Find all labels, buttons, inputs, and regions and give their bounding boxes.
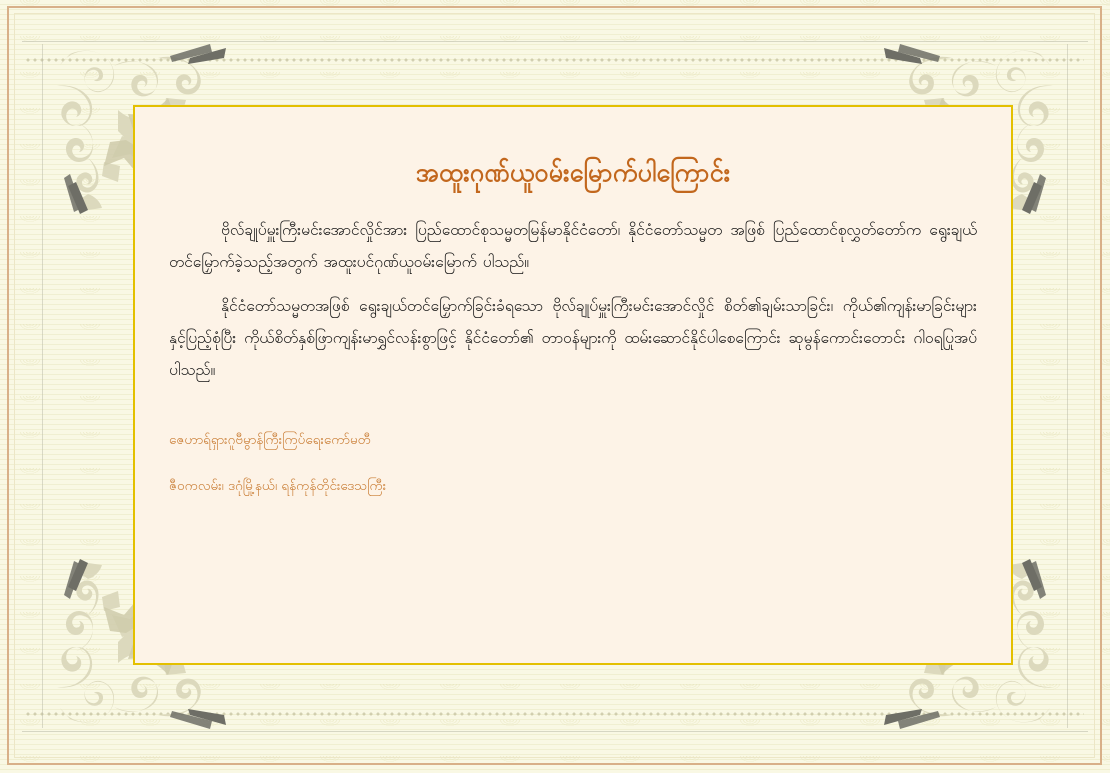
certificate-page: အထူးဂုဏ်ယူဝမ်းမြောက်ပါကြောင်း ဗိုလ်ချုပ်… [0, 0, 1110, 773]
bottom-beaded-line [26, 711, 1084, 717]
page-title: အထူးဂုဏ်ယူဝမ်းမြောက်ပါကြောင်း [169, 155, 977, 190]
right-rule-line [1067, 44, 1068, 728]
top-rule-line [22, 41, 1088, 42]
signature-organization: ဇေဟာရ်ရှားဂူဗီမွာန်ကြီးကြပ်ရေးကော်မတီ [169, 430, 977, 452]
certificate-panel: အထူးဂုဏ်ယူဝမ်းမြောက်ပါကြောင်း ဗိုလ်ချုပ်… [133, 105, 1013, 665]
top-beaded-line [26, 57, 1084, 63]
left-rule-line [42, 44, 43, 728]
body-paragraph-1: ဗိုလ်ချုပ်မှူးကြီးမင်းအောင်လှိုင်အား ပြည… [169, 214, 977, 278]
signature-block: ဇေဟာရ်ရှားဂူဗီမွာန်ကြီးကြပ်ရေးကော်မတီ ဇီ… [169, 430, 977, 497]
signature-address: ဇီဝကလမ်း၊ ဒဂုံမြို့နယ်၊ ရန်ကုန်တိုင်းဒေသ… [169, 476, 977, 498]
bottom-rule-line [22, 731, 1088, 732]
body-paragraph-2: နိုင်ငံတော်သမ္မတအဖြစ် ရွေးချယ်တင်မြှောက်… [169, 290, 977, 386]
